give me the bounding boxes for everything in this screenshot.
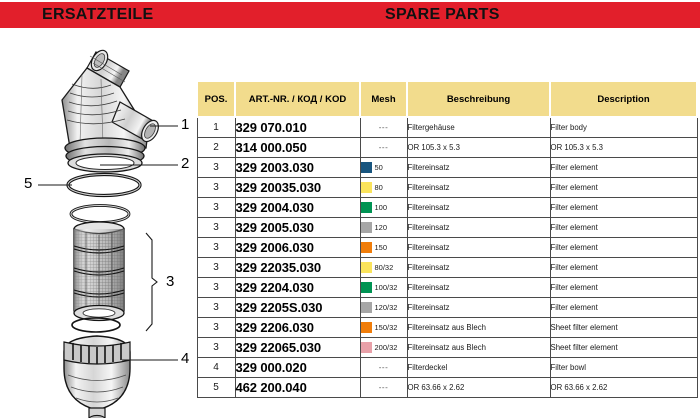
table-row: 1329 070.010---FiltergehäuseFilter body (197, 117, 697, 138)
cell-beschreibung: Filtereinsatz (407, 238, 550, 258)
cell-article-number: 329 2205S.030 (235, 298, 360, 318)
mesh-color-swatch (361, 222, 372, 233)
cell-position: 3 (197, 238, 235, 258)
table-row: 3329 22065.030200/32Filtereinsatz aus Bl… (197, 338, 697, 358)
cell-article-number: 329 2006.030 (235, 238, 360, 258)
cell-mesh: 100 (360, 198, 407, 218)
cell-mesh: 200/32 (360, 338, 407, 358)
mesh-label: 80/32 (375, 263, 394, 272)
column-header-mesh: Mesh (360, 81, 407, 117)
cell-beschreibung: Filtereinsatz (407, 278, 550, 298)
page-title-english: SPARE PARTS (385, 2, 500, 28)
table-row: 3329 22035.03080/32FiltereinsatzFilter e… (197, 258, 697, 278)
table-row: 3329 2006.030150FiltereinsatzFilter elem… (197, 238, 697, 258)
cell-position: 3 (197, 178, 235, 198)
cell-mesh: --- (360, 138, 407, 158)
mesh-label: --- (361, 123, 407, 132)
cell-beschreibung: Filtereinsatz (407, 198, 550, 218)
cell-beschreibung: Filtereinsatz aus Blech (407, 338, 550, 358)
cell-position: 3 (197, 198, 235, 218)
table-row: 2314 000.050---OR 105.3 x 5.3OR 105.3 x … (197, 138, 697, 158)
table-row: 3329 2005.030120FiltereinsatzFilter elem… (197, 218, 697, 238)
column-header-article-no: ART.-NR. / КОД / KOD (235, 81, 360, 117)
cell-description: Filter element (550, 218, 697, 238)
cell-mesh: 50 (360, 158, 407, 178)
cell-position: 3 (197, 218, 235, 238)
callout-label-5: 5 (24, 175, 32, 192)
column-header-beschreibung: Beschreibung (407, 81, 550, 117)
mesh-label: 150 (375, 243, 388, 252)
mesh-label: 120 (375, 223, 388, 232)
mesh-color-swatch (361, 262, 372, 273)
mesh-label: 150/32 (375, 323, 398, 332)
header-bar: ERSATZTEILE SPARE PARTS (0, 2, 700, 28)
cell-mesh: 120/32 (360, 298, 407, 318)
cell-article-number: 314 000.050 (235, 138, 360, 158)
cell-position: 3 (197, 258, 235, 278)
spare-parts-table: POS. ART.-NR. / КОД / KOD Mesh Beschreib… (196, 80, 696, 398)
cell-beschreibung: Filtereinsatz (407, 258, 550, 278)
cell-article-number: 462 200.040 (235, 378, 360, 398)
table-row: 3329 2204.030100/32FiltereinsatzFilter e… (197, 278, 697, 298)
table-row: 5462 200.040---OR 63.66 x 2.62OR 63.66 x… (197, 378, 697, 398)
cell-position: 4 (197, 358, 235, 378)
filter-element-graphic (72, 222, 124, 332)
cell-description: OR 63.66 x 2.62 (550, 378, 697, 398)
cell-article-number: 329 070.010 (235, 117, 360, 138)
cell-article-number: 329 2206.030 (235, 318, 360, 338)
mesh-label: --- (361, 383, 407, 392)
table-row: 3329 20035.03080FiltereinsatzFilter elem… (197, 178, 697, 198)
mesh-label: 100 (375, 203, 388, 212)
filter-bowl-graphic (64, 336, 130, 418)
column-header-description: Description (550, 81, 697, 117)
cell-description: Filter body (550, 117, 697, 138)
cell-mesh: --- (360, 358, 407, 378)
callout-label-2: 2 (181, 155, 189, 172)
callout-label-3: 3 (166, 273, 174, 290)
mesh-color-swatch (361, 282, 372, 293)
cell-description: Sheet filter element (550, 318, 697, 338)
cell-description: Filter bowl (550, 358, 697, 378)
table-row: 3329 2004.030100FiltereinsatzFilter elem… (197, 198, 697, 218)
filter-assembly-svg (0, 30, 190, 418)
cell-mesh: 80/32 (360, 258, 407, 278)
cell-beschreibung: Filtereinsatz (407, 218, 550, 238)
cell-article-number: 329 22035.030 (235, 258, 360, 278)
cell-description: Sheet filter element (550, 338, 697, 358)
mesh-color-swatch (361, 322, 372, 333)
cell-position: 5 (197, 378, 235, 398)
cell-article-number: 329 2004.030 (235, 198, 360, 218)
o-ring-upper-graphic (68, 175, 140, 196)
cell-beschreibung: OR 105.3 x 5.3 (407, 138, 550, 158)
cell-position: 3 (197, 318, 235, 338)
cell-description: Filter element (550, 298, 697, 318)
mesh-label: 100/32 (375, 283, 398, 292)
table-row: 3329 2205S.030120/32FiltereinsatzFilter … (197, 298, 697, 318)
mesh-color-swatch (361, 242, 372, 253)
cell-mesh: 80 (360, 178, 407, 198)
cell-position: 2 (197, 138, 235, 158)
mesh-color-swatch (361, 302, 372, 313)
mesh-color-swatch (361, 202, 372, 213)
table-row: 4329 000.020---FilterdeckelFilter bowl (197, 358, 697, 378)
cell-description: Filter element (550, 238, 697, 258)
o-ring-lower-graphic (71, 206, 129, 223)
mesh-color-swatch (361, 342, 372, 353)
cell-description: Filter element (550, 178, 697, 198)
cell-mesh: 150/32 (360, 318, 407, 338)
table-row: 3329 2206.030150/32Filtereinsatz aus Ble… (197, 318, 697, 338)
cell-beschreibung: Filtereinsatz aus Blech (407, 318, 550, 338)
cell-article-number: 329 22065.030 (235, 338, 360, 358)
callout-label-1: 1 (181, 116, 189, 133)
cell-position: 3 (197, 158, 235, 178)
cell-article-number: 329 20035.030 (235, 178, 360, 198)
cell-mesh: 100/32 (360, 278, 407, 298)
mesh-color-swatch (361, 182, 372, 193)
cell-description: Filter element (550, 278, 697, 298)
column-header-pos: POS. (197, 81, 235, 117)
cell-beschreibung: Filtereinsatz (407, 158, 550, 178)
cell-mesh: --- (360, 378, 407, 398)
table-row: 3329 2003.03050FiltereinsatzFilter eleme… (197, 158, 697, 178)
mesh-label: 200/32 (375, 343, 398, 352)
cell-beschreibung: Filtereinsatz (407, 178, 550, 198)
cell-position: 3 (197, 278, 235, 298)
cell-description: Filter element (550, 158, 697, 178)
mesh-label: 120/32 (375, 303, 398, 312)
cell-position: 3 (197, 298, 235, 318)
cell-beschreibung: Filtereinsatz (407, 298, 550, 318)
cell-article-number: 329 2204.030 (235, 278, 360, 298)
cell-position: 1 (197, 117, 235, 138)
cell-beschreibung: OR 63.66 x 2.62 (407, 378, 550, 398)
mesh-label: --- (361, 363, 407, 372)
callout-label-4: 4 (181, 350, 189, 367)
mesh-label: --- (361, 143, 407, 152)
cell-beschreibung: Filterdeckel (407, 358, 550, 378)
mesh-label: 50 (375, 163, 383, 172)
cell-mesh: --- (360, 117, 407, 138)
cell-article-number: 329 2003.030 (235, 158, 360, 178)
cell-mesh: 120 (360, 218, 407, 238)
cell-description: Filter element (550, 198, 697, 218)
table-header-row: POS. ART.-NR. / КОД / KOD Mesh Beschreib… (197, 81, 697, 117)
mesh-color-swatch (361, 162, 372, 173)
filter-body-graphic (62, 47, 162, 172)
exploded-view-drawing: 1 2 3 4 5 (0, 30, 190, 418)
mesh-label: 80 (375, 183, 383, 192)
table-body: 1329 070.010---FiltergehäuseFilter body2… (197, 117, 697, 398)
cell-article-number: 329 000.020 (235, 358, 360, 378)
cell-mesh: 150 (360, 238, 407, 258)
cell-beschreibung: Filtergehäuse (407, 117, 550, 138)
cell-description: Filter element (550, 258, 697, 278)
cell-position: 3 (197, 338, 235, 358)
cell-article-number: 329 2005.030 (235, 218, 360, 238)
page-title-german: ERSATZTEILE (42, 2, 153, 28)
cell-description: OR 105.3 x 5.3 (550, 138, 697, 158)
